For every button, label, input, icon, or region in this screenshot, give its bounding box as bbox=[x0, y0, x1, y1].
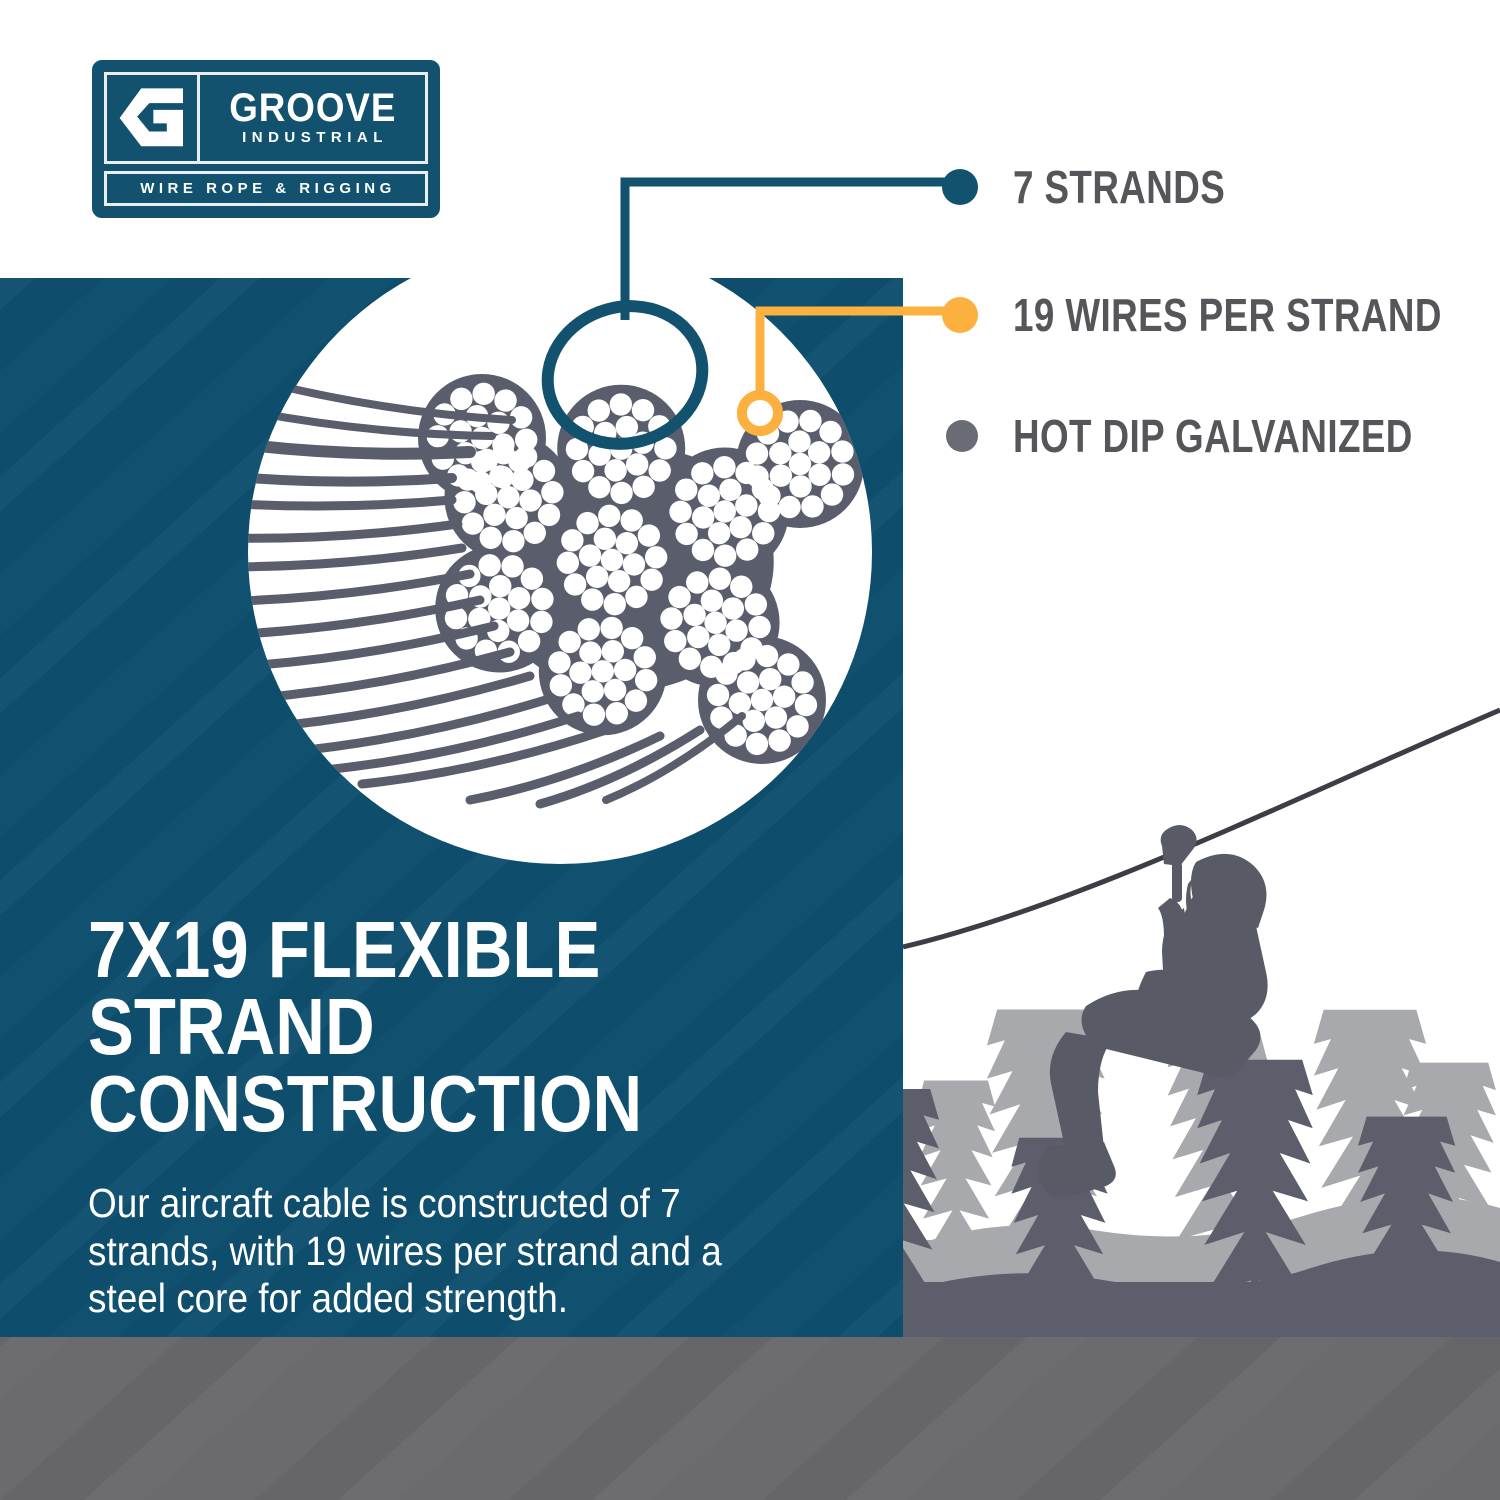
headline-line-2: STRAND CONSTRUCTION bbox=[88, 989, 767, 1143]
logo-tagline-text: WIRE ROPE & RIGGING bbox=[136, 180, 396, 197]
logo-tagline-box: WIRE ROPE & RIGGING bbox=[104, 171, 428, 206]
logo-wordmark-box: GROOVE INDUSTRIAL bbox=[200, 72, 428, 164]
headline-line-1: 7X19 FLEXIBLE bbox=[88, 912, 767, 989]
wire-highlight-ring bbox=[742, 395, 778, 431]
page-title: 7X19 FLEXIBLE STRAND CONSTRUCTION bbox=[88, 912, 767, 1142]
callout-label-galvanized: HOT DIP GALVANIZED bbox=[1013, 409, 1413, 463]
callout-label-strands: 7 STRANDS bbox=[1013, 160, 1225, 214]
callout-label-wires: 19 WIRES PER STRAND bbox=[1013, 288, 1442, 342]
callout-dot-navy-icon bbox=[942, 169, 978, 205]
infographic-canvas: GROOVE INDUSTRIAL WIRE ROPE & RIGGING 7 … bbox=[0, 0, 1500, 1500]
groove-g-monogram-icon bbox=[118, 87, 186, 149]
logo-sub-text: INDUSTRIAL bbox=[237, 129, 388, 146]
callout-dot-amber-icon bbox=[942, 297, 978, 333]
callout-galvanized: HOT DIP GALVANIZED bbox=[944, 409, 1500, 463]
description-paragraph: Our aircraft cable is constructed of 7 s… bbox=[88, 1180, 808, 1323]
callout-wires-per-strand: 19 WIRES PER STRAND bbox=[942, 288, 1500, 342]
brand-logo[interactable]: GROOVE INDUSTRIAL WIRE ROPE & RIGGING bbox=[92, 60, 440, 218]
logo-mark-box bbox=[104, 72, 200, 164]
callout-dot-gray-icon bbox=[946, 420, 978, 452]
logo-brand-text: GROOVE bbox=[229, 90, 396, 127]
callout-strands: 7 STRANDS bbox=[942, 160, 1278, 214]
